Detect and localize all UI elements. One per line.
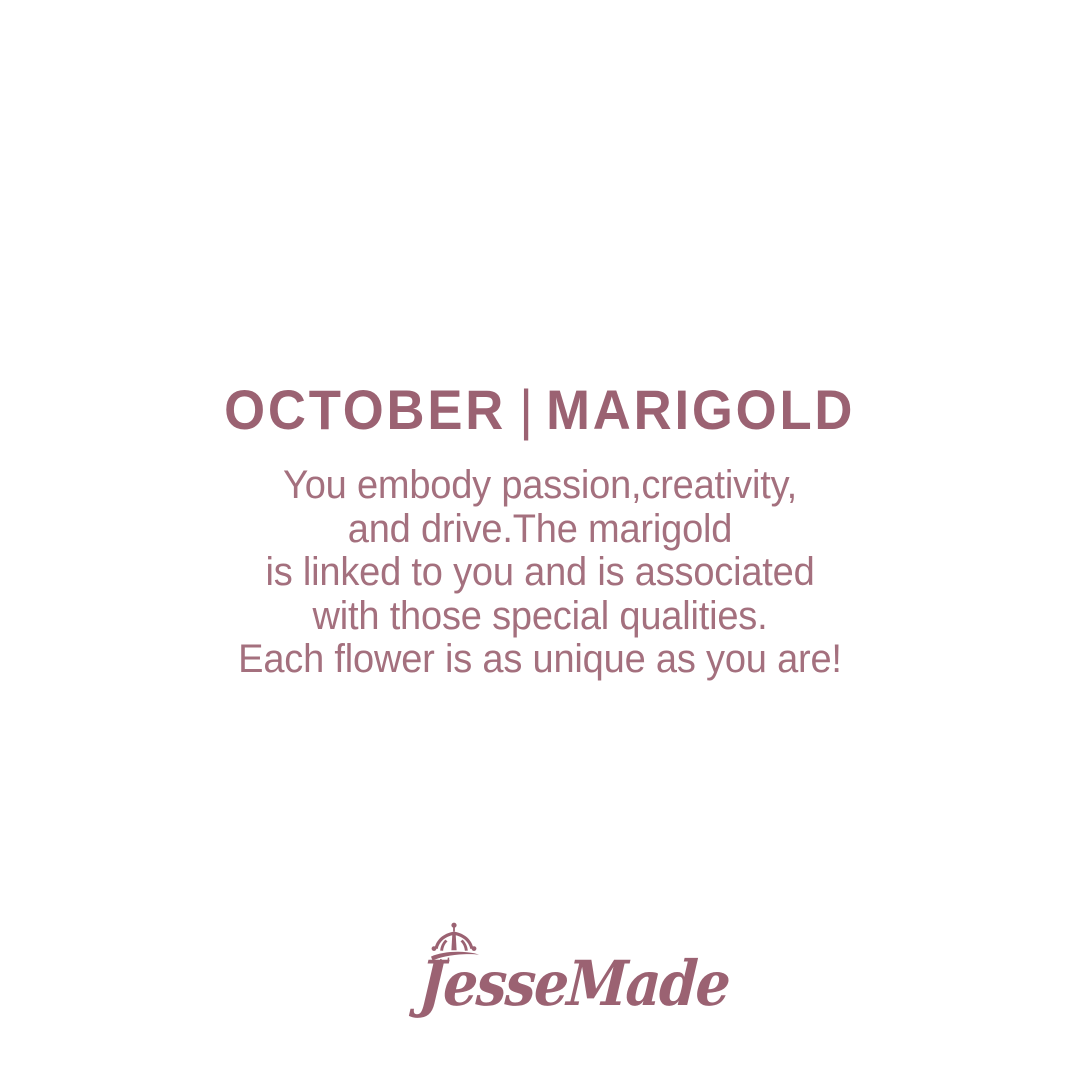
title-separator: | <box>506 381 546 438</box>
birth-flower-card: OCTOBER|MARIGOLD You embody passion,crea… <box>0 0 1080 1080</box>
brand-logo-inner: JesseMade <box>403 922 677 1022</box>
brand-logo: JesseMade <box>0 922 1080 1026</box>
body-text: You embody passion,creativity, and drive… <box>0 464 1080 682</box>
body-line: Each flower is as unique as you are! <box>27 638 1053 682</box>
page-title: OCTOBER|MARIGOLD <box>224 381 855 438</box>
body-line: with those special qualities. <box>27 595 1053 639</box>
title-block: OCTOBER|MARIGOLD <box>0 381 1080 438</box>
body-line: You embody passion,creativity, <box>27 464 1053 508</box>
title-flower: MARIGOLD <box>546 378 855 441</box>
body-line: and drive.The marigold <box>27 508 1053 552</box>
title-month: OCTOBER <box>224 378 506 441</box>
body-line: is linked to you and is associated <box>27 551 1053 595</box>
brand-wordmark: JesseMade <box>417 948 663 1020</box>
